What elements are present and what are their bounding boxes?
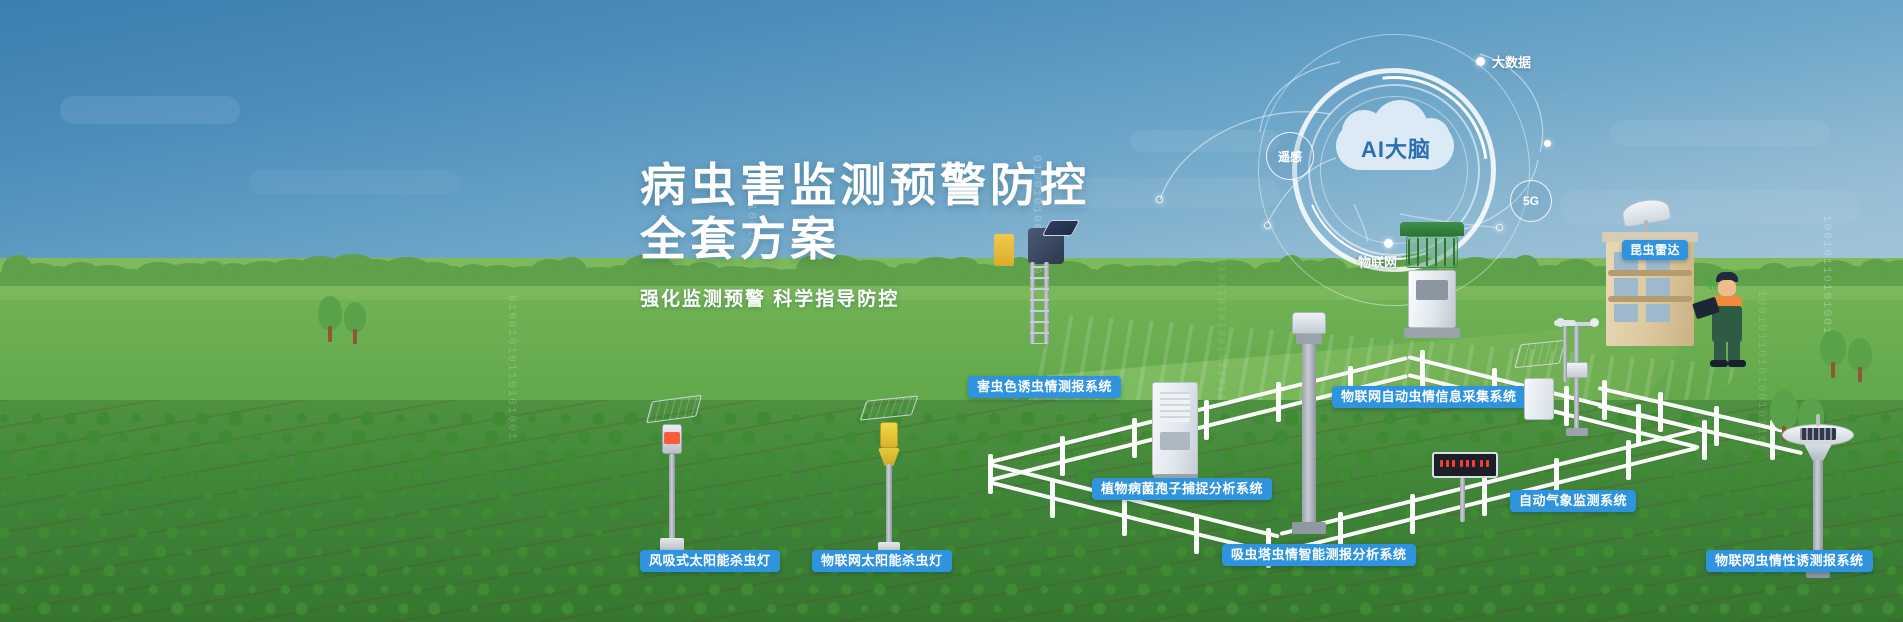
field-worker [1700,272,1756,368]
collector-base [1404,328,1460,338]
device-mini-weather-sensor[interactable] [1548,320,1582,390]
suction-head [1292,312,1326,334]
worker-head [1718,280,1736,296]
device-suction-tower[interactable] [1286,312,1332,542]
hub-endpoint-top-right [1544,140,1551,147]
suction-tower-pole [1302,344,1316,524]
illustration-banner: 010010100101101 0100101 0100101011010100… [0,0,1903,622]
pheromone-sensor-strip [1800,428,1836,440]
binary-stream-5: 100101101010010110 [1755,290,1767,445]
spore-vent [1160,392,1190,422]
cloud-shape-3 [1610,120,1830,146]
led-display-pole [1460,478,1465,522]
weather-cup-2 [1590,318,1599,327]
suction-tower-base [1292,522,1326,534]
hub-node-remote-sensing-label: 遥感 [1278,148,1302,165]
binary-stream-6: 0101101010010110101 [1215,258,1226,410]
badge-weather-station[interactable]: 自动气象监测系统 [1510,490,1636,512]
device-pest-color-trap[interactable] [988,228,1074,348]
hub-node-big-data-label: 大数据 [1492,52,1531,71]
worker-boot-right [1728,360,1746,367]
solar-panel-icon-2 [860,395,919,420]
building-window-5 [1614,304,1638,322]
binary-stream-3: 01001010110101001 [505,295,517,441]
suction-collar [1296,334,1322,344]
hub-node-remote-sensing[interactable]: 遥感 [1266,132,1314,180]
cloud-shape-6 [250,170,460,194]
worker-leg-left [1714,338,1726,362]
tree-left-2 [344,302,366,344]
hedge-bump [1880,260,1903,286]
collector-screen [1416,280,1448,300]
collector-cage-bars [1408,238,1456,266]
badge-iot-pheromone-trap[interactable]: 物联网虫情性诱测报系统 [1706,550,1873,572]
hub-node-iot-label: 物联网 [1358,252,1397,271]
device-iot-pest-collector[interactable] [1398,222,1468,362]
tree-right-2 [1848,338,1872,382]
building-window-3 [1614,278,1638,296]
collector-roof [1400,222,1464,236]
hub-endpoint-left [1156,196,1163,203]
badge-spore-capture[interactable]: 植物病菌孢子捕捉分析系统 [1092,478,1272,500]
ai-brain-hub: AI大脑 遥感 5G 大数据 物联网 [1140,36,1620,266]
building-balcony-2 [1608,296,1692,302]
lamp-light [664,432,680,444]
device-insect-radar-building[interactable] [1602,216,1698,352]
hub-node-iot-dot [1384,239,1393,248]
building-balcony-1 [1608,270,1692,276]
hub-node-5g-label: 5G [1523,194,1539,208]
badge-wind-solar-lamp[interactable]: 风吸式太阳能杀虫灯 [640,550,780,572]
hub-node-5g[interactable]: 5G [1510,180,1552,222]
hub-endpoint-bottom-left [1264,222,1271,229]
building-window-6 [1646,304,1670,322]
headline-line-1: 病虫害监测预警防控 [640,158,1090,212]
spore-panel [1160,432,1190,450]
badge-insect-radar[interactable]: 昆虫雷达 [1622,240,1688,260]
building-window-4 [1646,278,1670,296]
lamp-head-2 [880,422,898,448]
badge-suction-tower[interactable]: 吸虫塔虫情智能测报分析系统 [1222,544,1416,566]
mini-sensor-pole [1563,326,1567,382]
device-wind-solar-lamp[interactable] [640,398,700,558]
lamp-pole [669,454,675,542]
badge-iot-solar-lamp[interactable]: 物联网太阳能杀虫灯 [812,550,952,572]
tree-left-1 [318,296,342,342]
lamp-pole-2 [886,464,892,546]
pheromone-antenna [1816,414,1820,426]
worker-boot-left [1710,360,1728,367]
trap-ladder-rungs [1030,266,1049,344]
cloud-shape-1 [60,96,240,124]
tree-right-1 [1820,330,1846,378]
solar-panel-icon [646,395,702,423]
badge-pest-color-trap[interactable]: 害虫色诱虫情测报系统 [968,376,1121,398]
device-iot-solar-lamp[interactable] [858,398,918,558]
worker-leg-right [1728,338,1740,362]
weather-base [1566,428,1588,436]
trap-sticky-board [994,234,1014,266]
hub-node-big-data-dot [1476,57,1485,66]
led-display-board [1432,452,1498,478]
ai-brain-label: AI大脑 [1346,132,1446,164]
hub-endpoint-bottom-right [1496,224,1503,231]
badge-iot-pest-collector[interactable]: 物联网自动虫情信息采集系统 [1332,386,1526,408]
